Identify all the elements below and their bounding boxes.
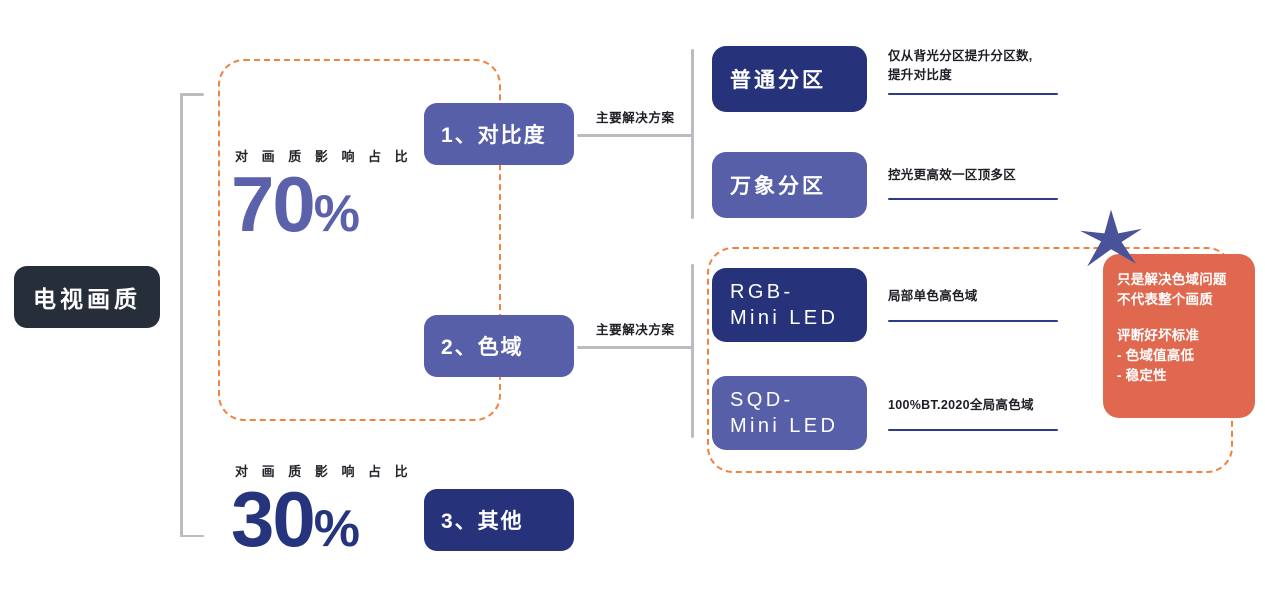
connector-line-contrast [577, 134, 693, 137]
solution-sqd-mini-led[interactable]: SQD- Mini LED [712, 376, 867, 450]
detail-text: 控光更高效一区顶多区 [888, 166, 1068, 185]
impact-value: 70% [231, 167, 413, 241]
category-other[interactable]: 3、其他 [424, 489, 574, 551]
detail-text: 局部单色高色域 [888, 287, 1068, 306]
callout-headline: 只是解决色域问题 不代表整个画质 [1117, 270, 1245, 311]
impact-number: 30 [231, 475, 314, 563]
solution-wanxiang-zoning[interactable]: 万象分区 [712, 152, 867, 218]
solution-rgb-mini-led[interactable]: RGB- Mini LED [712, 268, 867, 342]
detail-sqd-mini-led: 100%BT.2020全局高色域 [888, 396, 1068, 415]
impact-value: 30% [231, 482, 413, 556]
bracket-tick-top [180, 93, 204, 96]
impact-group-70: 对 画 质 影 响 占 比 70% [231, 146, 413, 241]
diagram-canvas: 电视画质 对 画 质 影 响 占 比 70% 对 画 质 影 响 占 比 30%… [0, 0, 1265, 600]
detail-rgb-mini-led: 局部单色高色域 [888, 287, 1068, 306]
impact-unit: % [314, 185, 359, 243]
detail-normal-zoning: 仅从背光分区提升分区数, 提升对比度 [888, 47, 1068, 85]
detail-rule-rgb [888, 320, 1058, 322]
connector-label-gamut: 主要解决方案 [596, 319, 675, 338]
detail-rule-wanxiang [888, 198, 1058, 200]
detail-text: 仅从背光分区提升分区数, 提升对比度 [888, 47, 1068, 85]
connector-line-gamut [577, 346, 693, 349]
solution-normal-zoning[interactable]: 普通分区 [712, 46, 867, 112]
connector-spine-gamut [691, 264, 694, 438]
root-node-tv-picture-quality[interactable]: 电视画质 [14, 266, 160, 328]
impact-unit: % [314, 500, 359, 558]
connector-spine-contrast [691, 49, 694, 219]
callout-gamut-caveat: 只是解决色域问题 不代表整个画质 评断好坏标准 - 色域值高低 - 稳定性 [1103, 254, 1255, 418]
detail-rule-normal [888, 93, 1058, 95]
bracket [180, 93, 206, 537]
detail-text: 100%BT.2020全局高色域 [888, 396, 1068, 415]
detail-rule-sqd [888, 429, 1058, 431]
detail-wanxiang-zoning: 控光更高效一区顶多区 [888, 166, 1068, 185]
callout-criteria: 评断好坏标准 - 色域值高低 - 稳定性 [1117, 326, 1245, 387]
connector-label-contrast: 主要解决方案 [596, 107, 675, 126]
impact-group-30: 对 画 质 影 响 占 比 30% [231, 461, 413, 556]
star-icon [1078, 207, 1144, 273]
bracket-tick-bottom [180, 535, 204, 538]
impact-number: 70 [231, 160, 314, 248]
category-contrast[interactable]: 1、对比度 [424, 103, 574, 165]
category-color-gamut[interactable]: 2、色域 [424, 315, 574, 377]
bracket-spine [180, 93, 183, 537]
